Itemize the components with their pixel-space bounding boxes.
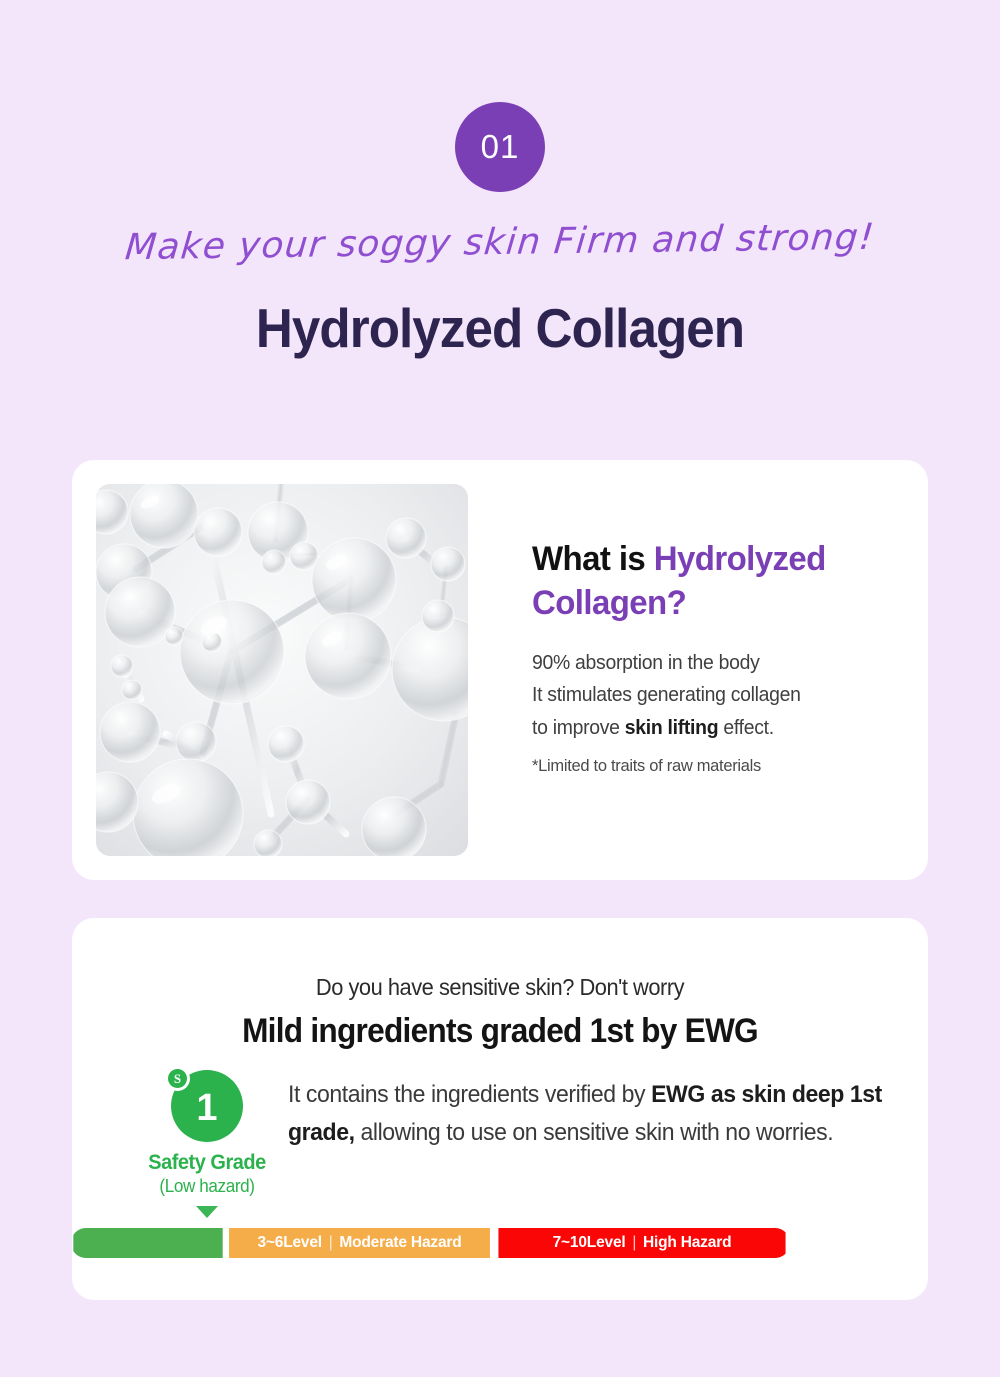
skin-deep-badge-glyph: S <box>168 1069 187 1088</box>
what-is-line-3: to improve skin lifting effect. <box>532 712 901 744</box>
ewg-paragraph-post: allowing to use on sensitive skin with n… <box>355 1119 834 1146</box>
safety-grade-sublabel: (Low hazard) <box>117 1176 298 1197</box>
hazard-moderate-level: 3~6Level <box>257 1234 321 1252</box>
ewg-title: Mild ingredients graded 1st by EWG <box>102 1012 898 1051</box>
what-is-card: What is Hydrolyzed Collagen? 90% absorpt… <box>72 460 928 880</box>
what-is-line-3-pre: to improve <box>532 717 625 739</box>
what-is-content: What is Hydrolyzed Collagen? 90% absorpt… <box>532 538 912 776</box>
what-is-paragraph: 90% absorption in the body It stimulates… <box>532 647 901 744</box>
safety-grade-number: 1 <box>196 1089 217 1127</box>
hazard-segment-high: 7~10Level | High Hazard <box>498 1228 785 1258</box>
hazard-pointer-triangle-icon <box>196 1206 218 1218</box>
hazard-high-level: 7~10Level <box>553 1234 626 1252</box>
what-is-line-3-post: effect. <box>718 717 774 739</box>
hazard-high-separator: | <box>632 1234 636 1252</box>
what-is-heading: What is Hydrolyzed Collagen? <box>532 538 901 625</box>
step-number-badge: 01 <box>455 102 545 192</box>
ewg-paragraph-pre: It contains the ingredients verified by <box>288 1081 651 1108</box>
ewg-subtitle: Do you have sensitive skin? Don't worry <box>93 974 906 1001</box>
what-is-heading-plain: What is <box>532 540 654 578</box>
safety-grade-label: Safety Grade <box>117 1151 298 1175</box>
hazard-segment-moderate: 3~6Level | Moderate Hazard <box>229 1228 490 1258</box>
hazard-moderate-separator: | <box>329 1234 333 1252</box>
hazard-scale-bar: 3~6Level | Moderate Hazard 7~10Level | H… <box>71 1228 790 1258</box>
molecule-image <box>96 484 468 856</box>
hazard-high-label: High Hazard <box>643 1234 731 1252</box>
safety-grade-block: S 1 Safety Grade (Low hazard) <box>112 1070 302 1218</box>
hazard-segment-low <box>73 1228 222 1258</box>
safety-grade-circle: S 1 <box>171 1070 243 1142</box>
page-title: Hydrolyzed Collagen <box>35 296 965 360</box>
skin-deep-badge-icon: S <box>165 1066 190 1091</box>
ewg-paragraph: It contains the ingredients verified by … <box>288 1076 883 1152</box>
hazard-moderate-label: Moderate Hazard <box>339 1234 461 1252</box>
what-is-footnote: *Limited to traits of raw materials <box>532 756 901 776</box>
step-number-label: 01 <box>481 128 520 166</box>
what-is-line-2: It stimulates generating collagen <box>532 679 901 711</box>
tagline-script: Make your soggy skin Firm and strong! <box>0 215 1000 270</box>
what-is-line-3-bold: skin lifting <box>625 717 719 739</box>
what-is-line-1: 90% absorption in the body <box>532 647 901 679</box>
